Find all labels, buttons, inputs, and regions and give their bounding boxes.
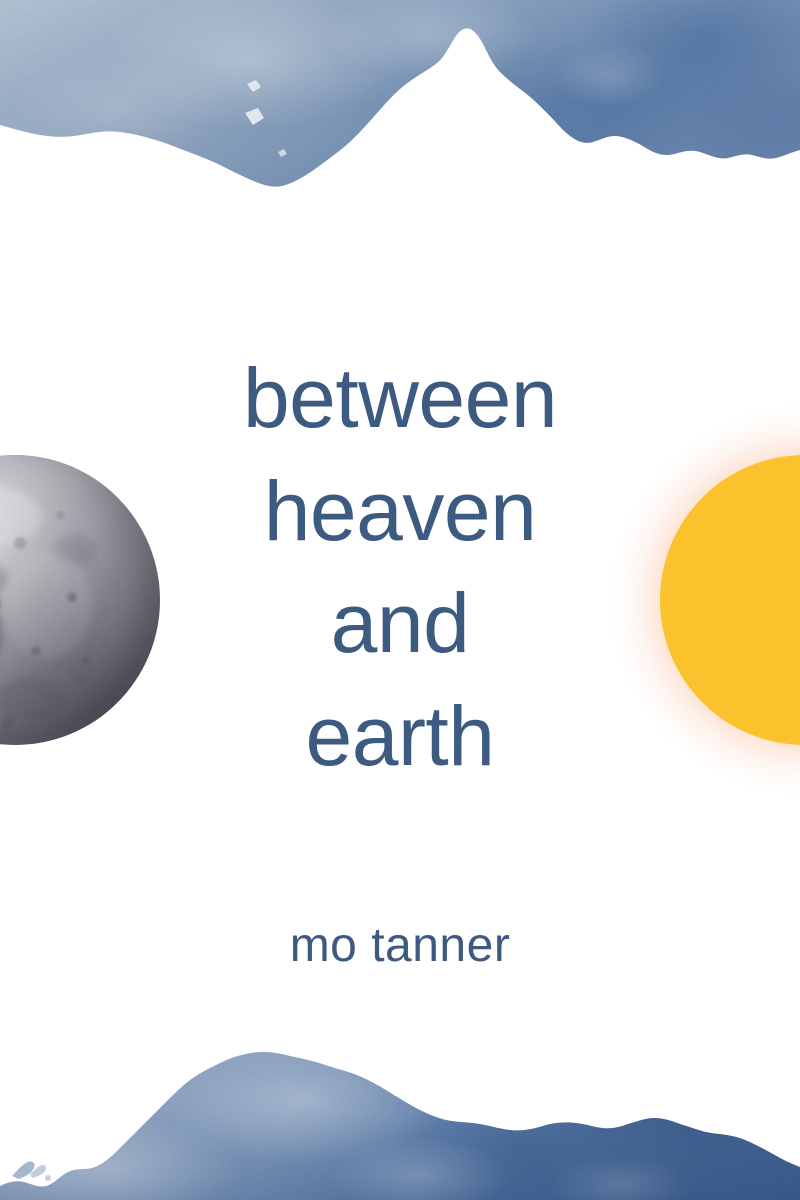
title-block: between heaven and earth (0, 342, 800, 792)
title-line-4: earth (0, 680, 800, 793)
title-line-1: between (0, 342, 800, 455)
watercolor-wash-top (0, 0, 800, 230)
author-name: mo tanner (0, 918, 800, 973)
title-line-3: and (0, 567, 800, 680)
watercolor-wash-bottom (0, 990, 800, 1200)
title-line-2: heaven (0, 455, 800, 568)
book-cover: between heaven and earth mo tanner (0, 0, 800, 1200)
